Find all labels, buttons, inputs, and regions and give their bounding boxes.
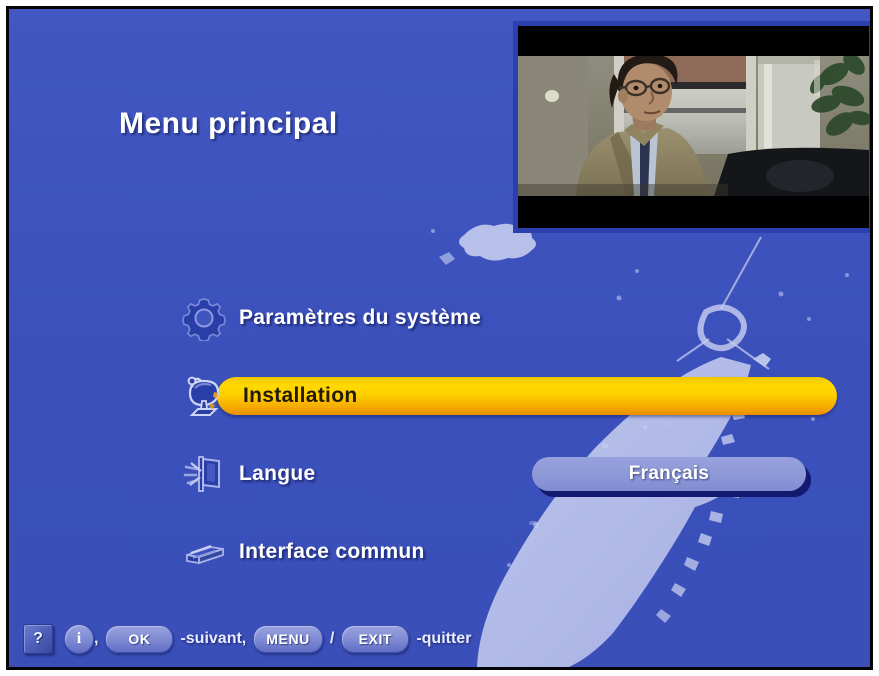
menu-key-badge[interactable]: MENU (253, 625, 323, 653)
status-bar: ? i , OK -suivant, MENU / EXIT -quitter (9, 619, 870, 659)
help-key-badge[interactable]: ? (23, 624, 53, 654)
language-value-button[interactable]: Français (532, 457, 806, 491)
main-menu-list: Paramètres du système (9, 279, 870, 591)
gear-icon (181, 295, 227, 341)
tv-osd-screen: Menu principal Paramètres du système (6, 6, 873, 670)
satellite-dish-icon (181, 373, 227, 419)
status-separator-2: / (330, 630, 334, 648)
video-still-image (518, 26, 869, 228)
video-frame (518, 26, 869, 228)
exit-action-label: -quitter (416, 630, 471, 648)
language-flag-icon (181, 451, 227, 497)
menu-item-label: Paramètres du système (239, 306, 481, 330)
status-separator-1: , (94, 630, 98, 648)
ok-action-label: -suivant, (180, 630, 246, 648)
ci-module-card-icon (181, 529, 227, 575)
page-title: Menu principal (119, 107, 338, 141)
menu-item-label: Installation (243, 384, 357, 408)
language-value-label: Français (532, 457, 806, 491)
menu-item-installation[interactable]: Installation (9, 357, 870, 435)
exit-key-badge[interactable]: EXIT (341, 625, 409, 653)
menu-item-system-settings[interactable]: Paramètres du système (9, 279, 870, 357)
menu-item-label: Langue (239, 462, 315, 486)
ok-key-badge[interactable]: OK (105, 625, 173, 653)
picture-in-picture-video[interactable] (513, 21, 873, 233)
info-key-badge[interactable]: i (64, 624, 94, 654)
menu-item-language[interactable]: Langue Français (9, 435, 870, 513)
menu-item-label: Interface commun (239, 540, 425, 564)
menu-item-common-interface[interactable]: Interface commun (9, 513, 870, 591)
